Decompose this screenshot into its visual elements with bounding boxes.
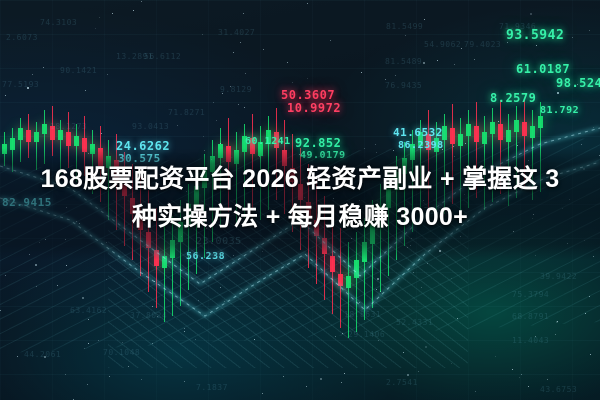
- headline-line-2: 种实操方法 + 每月稳赚 3000+: [26, 198, 574, 236]
- page-title: 168股票配资平台 2026 轻资产副业 + 掌握这 3 种实操方法 + 每月稳…: [0, 160, 600, 236]
- headline-line-1: 168股票配资平台 2026 轻资产副业 + 掌握这 3: [26, 160, 574, 198]
- banner-stage: 93.594261.018798.5248.257981.79250.36071…: [0, 0, 600, 400]
